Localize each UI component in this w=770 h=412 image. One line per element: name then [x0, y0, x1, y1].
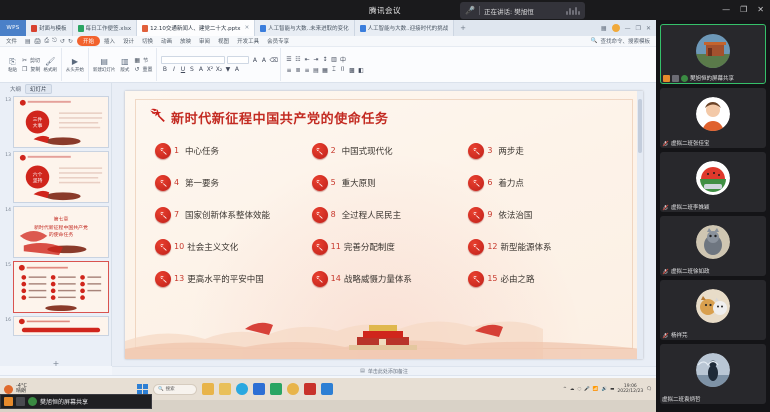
home-icon	[31, 25, 37, 32]
participant-footer: 虚拟二班袁炳哲	[660, 395, 766, 403]
numbered-list-button[interactable]: ☷	[294, 56, 301, 63]
mic-muted-icon	[662, 268, 669, 275]
bold-button[interactable]: B	[161, 66, 168, 73]
thumbnail-number: 13	[2, 151, 11, 203]
preview-icon[interactable]: ⎙	[44, 37, 49, 45]
divider	[479, 6, 480, 15]
ribbon-group-slideshow: ▶ 从头开始	[62, 48, 89, 81]
thumbnail-list[interactable]: 13 三件 大事	[0, 94, 111, 366]
font-color-button[interactable]: A	[233, 66, 240, 73]
party-badge-icon	[155, 207, 171, 223]
text-effect-button[interactable]: A	[197, 66, 204, 73]
screen-share-label: 樊旭恒的屏幕共享	[40, 397, 88, 406]
tab-outline[interactable]: 大纲	[10, 85, 21, 93]
slide-item-text: 全过程人民民主	[342, 209, 402, 221]
shape-fill-button[interactable]: ◧	[357, 67, 364, 74]
participant-name: 虚拟二班袁炳哲	[662, 395, 701, 403]
slide-item-text: 着力点	[498, 177, 524, 189]
align-middle-button[interactable]: ⌷	[339, 66, 346, 74]
participant-name: 樊旭恒的屏幕共享	[690, 74, 734, 82]
slide-item-number: 3	[487, 146, 495, 155]
meeting-app-title: 腾讯会议	[369, 5, 401, 16]
slide-item-number: 1	[174, 146, 182, 155]
slide-item-text: 国家创新体系整体效能	[185, 209, 270, 221]
subscript-button[interactable]: X₂	[215, 66, 222, 73]
section-icon: ▦	[134, 57, 140, 64]
thumbnail-number: 15	[2, 261, 11, 313]
avatar	[696, 97, 730, 131]
thumbnail-item[interactable]: 14 第七章 新时代新征程中国共产党 的使命任务	[2, 206, 109, 258]
search-icon: 🔍	[158, 387, 164, 392]
start-button-icon[interactable]	[137, 384, 148, 395]
new-slide-button[interactable]: ▤ 新建幻灯片	[93, 57, 116, 73]
ribbon-tab-insert[interactable]: 插入	[100, 37, 119, 45]
slide-item-number: 7	[174, 210, 182, 219]
format-painter-button[interactable]: 🖌 格式刷	[43, 57, 57, 73]
participant-footer: 虚拟二班李姝颖	[660, 203, 766, 211]
notes-placeholder: 单击此处添加备注	[368, 368, 408, 375]
participants-rail: 樊旭恒的屏幕共享 虚拟二班张佳宝	[656, 20, 770, 412]
mic-icon: 🎤	[465, 6, 475, 15]
paste-icon: ⎘	[9, 57, 15, 66]
redo-icon[interactable]: ↻	[68, 38, 73, 45]
slide-item-text: 依法治国	[498, 209, 532, 221]
ribbon-tab-developer[interactable]: 开发工具	[233, 37, 263, 45]
align-center-button[interactable]: ≣	[294, 67, 301, 74]
notification-icon[interactable]: 🗨	[646, 387, 652, 392]
slide-item-text: 两步走	[498, 145, 524, 157]
presentation-icon	[142, 25, 148, 32]
slide-item[interactable]: 6 着力点	[468, 175, 625, 191]
thumbnail-number: 14	[2, 206, 11, 258]
svg-text:坚持: 坚持	[33, 177, 43, 184]
ribbon-body: ⎘ 粘贴 ✂ 剪切 ❐ 复制 🖌 格式刷	[0, 47, 656, 83]
columns-button[interactable]: ▥	[330, 56, 337, 63]
slide-item[interactable]: 11 完善分配制度	[312, 239, 469, 255]
participant-footer: 杨祥芫	[660, 331, 766, 339]
slide-item[interactable]: 2 中国式现代化	[312, 143, 469, 159]
download-icon	[681, 75, 688, 82]
distribute-button[interactable]: ▦	[321, 67, 328, 74]
close-icon[interactable]: ✕	[757, 6, 764, 14]
mic-muted-icon	[662, 332, 669, 339]
ribbon-tab-row: 文件 ▤ 🖨 ⎙ ⎋ ↺ ↻ 开始 插入 设计 切换 动画 放映 审阅 视图 开…	[0, 36, 656, 47]
audio-wave-icon	[566, 7, 580, 15]
notes-pane[interactable]: ▤ 单击此处添加备注	[112, 366, 656, 375]
volume-icon[interactable]: 🔊	[601, 387, 607, 392]
thumbnail-preview[interactable]	[13, 316, 109, 336]
layout-button[interactable]: ▥ 版式	[118, 57, 131, 73]
slide-item-number: 12	[487, 242, 497, 251]
workspace: 大纲 幻灯片 13 三件 大事	[0, 83, 656, 366]
layout-icon: ▥	[121, 57, 129, 66]
svg-text:新时代新征程中国共产党: 新时代新征程中国共产党	[34, 224, 88, 231]
line-spacing-button[interactable]: ↕	[321, 56, 328, 63]
file-tabstrip: WPS 封面与模板 每日工作便签.xlsx 12.10交通新闻人、建党二十大.p…	[0, 20, 656, 36]
grid-icon[interactable]: ▦	[601, 25, 607, 32]
file-tab-label: 每日工作便签.xlsx	[86, 24, 132, 32]
strikethrough-button[interactable]: S	[188, 66, 195, 73]
new-tab-button[interactable]: +	[454, 20, 472, 36]
ribbon-group-slides: ▤ 新建幻灯片 ▥ 版式 ▦ 节 ↺ 重置	[89, 48, 158, 81]
paste-button[interactable]: ⎘ 粘贴	[6, 57, 19, 73]
print-icon[interactable]: 🖨	[34, 38, 42, 45]
quick-access-toolbar[interactable]: ▤ 🖨 ⎙ ⎋ ↺ ↻	[21, 37, 77, 45]
edge-icon[interactable]	[236, 383, 248, 395]
minimize-icon[interactable]: —	[625, 25, 631, 32]
file-tab[interactable]: 人工智能与大数..迎接时代的挑战	[355, 20, 455, 36]
increase-font-icon[interactable]: A	[251, 57, 258, 64]
participant-tile[interactable]: 虚拟二班李姝颖	[660, 152, 766, 212]
participant-tile[interactable]: 虚拟二班张佳宝	[660, 88, 766, 148]
host-icon	[663, 75, 670, 82]
participant-name: 虚拟二班李姝颖	[671, 203, 710, 211]
participant-tile[interactable]: 杨祥芫	[660, 280, 766, 340]
thumbnail-item[interactable]: 13 六个 坚持	[2, 151, 109, 203]
align-right-button[interactable]: ≡	[303, 67, 310, 74]
tray-expand-icon[interactable]: ^	[563, 387, 567, 392]
screen-share-bar[interactable]: 樊旭恒的屏幕共享	[0, 394, 152, 409]
slide-item-text: 更高水平的平安中国	[187, 273, 264, 285]
thumbnail-pane-tabs: 大纲 幻灯片	[0, 83, 111, 94]
clear-format-icon[interactable]: ⌫	[269, 57, 276, 64]
party-badge-icon	[468, 239, 484, 255]
slide-item-text: 中国式现代化	[342, 145, 393, 157]
layout-label: 版式	[120, 67, 129, 73]
slide-item-number: 10	[174, 242, 184, 251]
thumbnail-item[interactable]: 13 三件 大事	[2, 96, 109, 148]
file-tab-label: 人工智能与大数..未来进取的变化	[268, 24, 349, 32]
svg-text:的使命任务: 的使命任务	[49, 231, 74, 238]
participant-tile[interactable]: 虚拟二班徐如政	[660, 216, 766, 276]
scissors-icon: ✂	[22, 57, 27, 64]
ribbon-group-paragraph: ☰ ☷ ⇤ ⇥ ↕ ▥ 中 ≡ ≣ ≡ ▤ ▦ ⌶	[281, 48, 368, 81]
thumbnail-preview[interactable]: 三件 大事	[13, 96, 109, 148]
justify-button[interactable]: ▤	[312, 67, 319, 74]
text-direction-button[interactable]: 中	[339, 55, 346, 64]
slide-title: 新时代新征程中国共产党的使命任务	[171, 108, 389, 127]
copy-label: 复制	[30, 66, 40, 73]
thumbnail-item[interactable]: 16	[2, 316, 109, 336]
slide-item[interactable]: 4 第一要务	[155, 175, 312, 191]
ribbon-group-font: A A ⌫ B I U S A X² X₂ ▼ A	[157, 48, 281, 81]
ribbon-tab-animation[interactable]: 动画	[157, 37, 176, 45]
slide-item-number: 2	[331, 146, 339, 155]
chrome-icon[interactable]	[287, 383, 299, 395]
party-badge-icon	[468, 207, 484, 223]
party-badge-icon	[155, 143, 171, 159]
search-placeholder: 查找命令、搜索模板	[600, 37, 650, 45]
weather-icon	[4, 385, 13, 394]
file-tab-label: 封面与模板	[39, 24, 67, 32]
slide-item[interactable]: 15 必由之路	[468, 271, 625, 287]
participant-tile-active[interactable]: 樊旭恒的屏幕共享	[660, 24, 766, 84]
screen-share-icon	[672, 75, 679, 82]
slide-item-text: 中心任务	[185, 145, 219, 157]
participant-name: 虚拟二班张佳宝	[671, 139, 710, 147]
italic-button[interactable]: I	[170, 66, 177, 73]
ribbon-tab-slideshow[interactable]: 放映	[176, 37, 195, 45]
new-slide-icon: ▤	[100, 57, 108, 66]
minimize-icon[interactable]: —	[722, 6, 730, 14]
party-badge-icon	[155, 175, 171, 191]
slide-column-1: 1 中心任务 4 第一要务 7 国家创新体系整体效能	[155, 143, 312, 287]
slide-item-text: 重大原则	[342, 177, 376, 189]
avatar	[696, 353, 730, 387]
bullet-list-button[interactable]: ☰	[285, 56, 292, 63]
start-slideshow-button[interactable]: ▶ 从头开始	[66, 57, 84, 73]
participant-footer: 虚拟二班张佳宝	[660, 139, 766, 147]
speaking-label: 正在讲话: 樊旭恒	[484, 6, 534, 16]
slide-item[interactable]: 14 战略威慑力量体系	[312, 271, 469, 287]
slide-item-text: 社会主义文化	[187, 241, 238, 253]
avatar	[696, 225, 730, 259]
file-tab-label: 12.10交通新闻人、建党二十大.pptx	[150, 24, 240, 32]
slide-item[interactable]: 9 依法治国	[468, 207, 625, 223]
file-tab[interactable]: 人工智能与大数..未来进取的变化	[255, 20, 355, 36]
party-badge-icon	[312, 239, 328, 255]
thumbnail-number: 16	[2, 316, 11, 336]
taskbar-search[interactable]: 🔍 搜索	[153, 384, 197, 395]
file-tab-active[interactable]: 12.10交通新闻人、建党二十大.pptx ✕	[137, 20, 255, 36]
network-icon[interactable]: ◌	[577, 387, 581, 392]
add-slide-button[interactable]: +	[0, 358, 112, 368]
increase-indent-button[interactable]: ⇥	[312, 56, 319, 63]
maximize-icon[interactable]: ❐	[740, 6, 747, 14]
participant-footer: 虚拟二班徐如政	[660, 267, 766, 275]
new-slide-label: 新建幻灯片	[93, 67, 116, 73]
align-left-button[interactable]: ≡	[285, 67, 292, 74]
weather-widget[interactable]: -4°C 晴朗	[0, 384, 27, 394]
meeting-titlebar: 腾讯会议	[0, 0, 770, 20]
cloud-icon[interactable]: ☁	[570, 387, 575, 392]
section-button[interactable]: ▦ 节	[134, 57, 152, 64]
tabstrip-right-controls: ▦ — ❐ ✕	[596, 20, 656, 36]
ribbon-group-clipboard: ⎘ 粘贴 ✂ 剪切 ❐ 复制 🖌 格式刷	[2, 48, 62, 81]
presentation-icon	[360, 25, 366, 32]
slide-column-2: 2 中国式现代化 5 重大原则 8 全过程人民民主	[312, 143, 469, 287]
slide-item-number: 8	[331, 210, 339, 219]
participant-name: 杨祥芫	[671, 331, 688, 339]
spreadsheet-icon	[78, 25, 84, 32]
mic-muted-icon	[662, 204, 669, 211]
share-icon[interactable]: ⎋	[52, 37, 57, 45]
download-icon[interactable]	[28, 397, 37, 406]
slide-item[interactable]: 1 中心任务	[155, 143, 312, 159]
wifi-icon[interactable]: 📶	[593, 387, 599, 392]
wps-window: WPS 封面与模板 每日工作便签.xlsx 12.10交通新闻人、建党二十大.p…	[0, 20, 656, 378]
search-icon: 🔍	[591, 38, 598, 44]
align-top-button[interactable]: ⌶	[330, 66, 337, 74]
thumbnail-preview[interactable]: 六个 坚持	[13, 151, 109, 203]
slide-item[interactable]: 8 全过程人民民主	[312, 207, 469, 223]
clock[interactable]: 19:06 2022/12/23	[617, 384, 643, 394]
screenshot-root: 腾讯会议 🎤 正在讲话: 樊旭恒 — ❐ ✕ WPS 封面与模板 每日工作便签.…	[0, 0, 770, 412]
notes-icon: ▤	[360, 368, 365, 374]
copy-icon: ❐	[22, 66, 27, 73]
file-tab-label: 人工智能与大数..迎接时代的挑战	[368, 24, 449, 32]
party-badge-icon	[468, 143, 484, 159]
party-badge-icon	[312, 207, 328, 223]
speaking-indicator: 🎤 正在讲话: 樊旭恒	[460, 2, 585, 19]
slide-item-number: 11	[331, 242, 341, 251]
ribbon-tab-file[interactable]: 文件	[2, 37, 21, 45]
thumbnail-number: 13	[2, 96, 11, 148]
close-icon[interactable]: ✕	[646, 25, 651, 32]
slide-item-text: 必由之路	[501, 273, 535, 285]
presentation-icon	[260, 25, 266, 32]
party-badge-icon	[312, 271, 328, 287]
play-icon: ▶	[72, 57, 78, 66]
slide-item[interactable]: 5 重大原则	[312, 175, 469, 191]
paste-label: 粘贴	[8, 67, 17, 73]
party-badge-icon	[468, 271, 484, 287]
slide-item-grid: 1 中心任务 4 第一要务 7 国家创新体系整体效能	[155, 143, 625, 287]
slide-item-number: 5	[331, 178, 339, 187]
cut-button[interactable]: ✂ 剪切	[22, 57, 40, 64]
slide-item-text: 新型能源体系	[501, 241, 552, 253]
slide-item-text: 第一要务	[185, 177, 219, 189]
reset-icon: ↺	[134, 66, 139, 73]
thumbnail-item-selected[interactable]: 15	[2, 261, 109, 313]
font-name-input[interactable]	[161, 56, 225, 64]
font-size-input[interactable]	[227, 56, 249, 64]
party-badge-icon	[155, 239, 171, 255]
slide-item-number: 13	[174, 274, 184, 283]
mic-muted-icon	[662, 140, 669, 147]
svg-text:第七章: 第七章	[54, 216, 69, 223]
ribbon-search[interactable]: 🔍 查找命令、搜索模板	[591, 37, 654, 45]
avatar	[696, 161, 730, 195]
avatar[interactable]	[612, 24, 620, 32]
slide-item-number: 9	[487, 210, 495, 219]
file-tab[interactable]: 每日工作便签.xlsx	[73, 20, 138, 36]
start-slideshow-label: 从头开始	[66, 67, 84, 73]
file-explorer-icon[interactable]	[202, 383, 214, 395]
file-tab[interactable]: 封面与模板	[26, 20, 73, 36]
ribbon-tab-member[interactable]: 会员专享	[263, 37, 293, 45]
clock-date: 2022/12/23	[617, 389, 643, 394]
ribbon-tab-start[interactable]: 开始	[77, 36, 100, 46]
folder-icon[interactable]	[219, 383, 231, 395]
superscript-button[interactable]: X²	[206, 66, 213, 73]
wps-office-icon[interactable]	[304, 383, 316, 395]
participant-footer: 樊旭恒的屏幕共享	[661, 74, 765, 82]
reset-button[interactable]: ↺ 重置	[134, 66, 152, 73]
search-label: 搜索	[166, 386, 175, 392]
decrease-font-icon[interactable]: A	[260, 57, 267, 64]
party-badge-icon	[155, 271, 171, 287]
slide-item-text: 战略威慑力量体系	[344, 273, 412, 285]
participant-tile[interactable]: 虚拟二班袁炳哲	[660, 344, 766, 404]
section-label: 节	[143, 57, 148, 64]
copy-button[interactable]: ❐ 复制	[22, 66, 40, 73]
decrease-indent-button[interactable]: ⇤	[303, 56, 310, 63]
smartart-button[interactable]: ▩	[348, 67, 355, 74]
slide-column-3: 3 两步走 6 着力点 9 依法治国	[468, 143, 625, 287]
reset-label: 重置	[142, 66, 152, 73]
ribbon-tab-review[interactable]: 审阅	[195, 37, 214, 45]
mic-icon[interactable]: 🎤	[584, 387, 590, 392]
slide-item[interactable]: 7 国家创新体系整体效能	[155, 207, 312, 223]
wps-logo: WPS	[0, 20, 26, 36]
party-badge-icon	[312, 143, 328, 159]
slide-item[interactable]: 13 更高水平的平安中国	[155, 271, 312, 287]
party-badge-icon	[312, 175, 328, 191]
avatar	[696, 34, 730, 68]
slide-item[interactable]: 3 两步走	[468, 143, 625, 159]
wps-spreadsheet-icon[interactable]	[270, 383, 282, 395]
thumbnail-preview[interactable]: 第七章 新时代新征程中国共产党 的使命任务	[13, 206, 109, 258]
meeting-window-controls[interactable]: — ❐ ✕	[722, 0, 764, 20]
store-icon[interactable]	[253, 383, 265, 395]
maximize-icon[interactable]: ❐	[636, 25, 641, 32]
scrollbar-thumb[interactable]	[638, 99, 642, 153]
slide-item-number: 4	[174, 178, 182, 187]
avatar	[696, 289, 730, 323]
highlight-color-button[interactable]: ▼	[224, 66, 231, 73]
tencent-meeting-icon[interactable]	[321, 383, 333, 395]
ribbon-tab-transition[interactable]: 切换	[138, 37, 157, 45]
decorative-clouds-graphic	[125, 301, 643, 359]
svg-text:大事: 大事	[33, 122, 43, 129]
battery-icon[interactable]: ▬	[610, 387, 614, 392]
slide-editing-area[interactable]: 新时代新征程中国共产党的使命任务 1 中心任务 4 第一要务	[112, 83, 656, 366]
screen-share-icon[interactable]	[16, 397, 25, 406]
slide-scrollbar[interactable]	[637, 91, 643, 359]
host-icon[interactable]	[4, 397, 13, 406]
slide-item[interactable]: 10 社会主义文化	[155, 239, 312, 255]
slide-item-number: 6	[487, 178, 495, 187]
party-emblem-icon	[147, 104, 168, 125]
party-badge-icon	[468, 175, 484, 191]
slide-item[interactable]: 12 新型能源体系	[468, 239, 625, 255]
undo-icon[interactable]: ↺	[60, 38, 65, 45]
format-painter-icon: 🖌	[45, 57, 55, 66]
cut-label: 剪切	[30, 57, 40, 64]
ribbon-tab-view[interactable]: 视图	[214, 37, 233, 45]
system-tray: ^ ☁ ◌ 🎤 📶 🔊 ▬ 19:06 2022/12/23 🗨	[563, 384, 656, 394]
slide-item-number: 14	[331, 274, 341, 283]
thumbnail-pane: 大纲 幻灯片 13 三件 大事	[0, 83, 112, 366]
taskbar-center: 🔍 搜索	[137, 383, 333, 395]
ribbon-tab-design[interactable]: 设计	[119, 37, 138, 45]
thumbnail-preview[interactable]	[13, 261, 109, 313]
slide-item-number: 15	[487, 274, 497, 283]
format-painter-label: 格式刷	[43, 67, 57, 73]
slide-item-text: 完善分配制度	[344, 241, 395, 253]
tab-slides[interactable]: 幻灯片	[25, 84, 52, 94]
slide-canvas[interactable]: 新时代新征程中国共产党的使命任务 1 中心任务 4 第一要务	[125, 91, 643, 359]
underline-button[interactable]: U	[179, 66, 186, 73]
participant-name: 虚拟二班徐如政	[671, 267, 710, 275]
save-icon[interactable]: ▤	[25, 38, 31, 45]
close-icon[interactable]: ✕	[245, 25, 250, 31]
